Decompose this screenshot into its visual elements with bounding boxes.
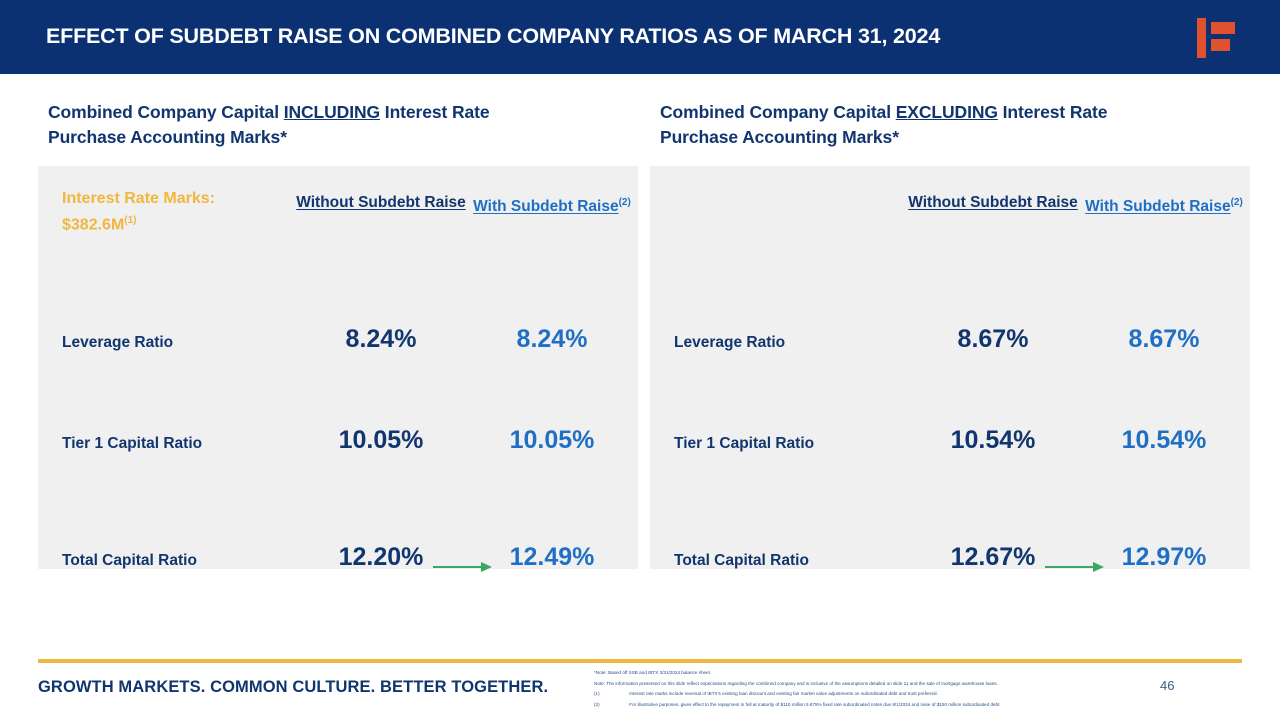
- panel-body-excluding: Without Subdebt Raise With Subdebt Raise…: [650, 166, 1250, 569]
- column-header-with-label: With Subdebt Raise: [1085, 196, 1230, 217]
- f-logo-icon: [1197, 18, 1237, 58]
- footnote-text: Interest rate marks include reversal of …: [629, 691, 938, 696]
- footnote-text: Based off SSB and IBTX 3/31/2024 balance…: [608, 670, 711, 675]
- footnote-text: The information presented on this slide …: [606, 681, 998, 686]
- panel-heading-pre: Combined Company Capital: [48, 102, 284, 122]
- column-header-with-footnote-ref: (2): [1231, 197, 1243, 208]
- value-with-leverage-ratio: 8.24%: [466, 325, 638, 354]
- panel-heading-emphasis: INCLUDING: [284, 102, 380, 122]
- column-header-with-label: With Subdebt Raise: [473, 196, 618, 217]
- value-with-total-capital-ratio: 12.97%: [1078, 543, 1250, 572]
- row-label-tier1-capital-ratio: Tier 1 Capital Ratio: [62, 435, 202, 453]
- column-header-without-subdebt-raise: Without Subdebt Raise: [902, 192, 1084, 213]
- footnote-note: Note: The information presented on this …: [594, 679, 1194, 690]
- footnote-marker: (1): [594, 689, 628, 700]
- row-label-leverage-ratio: Leverage Ratio: [62, 334, 173, 352]
- value-without-tier1-capital-ratio: 10.54%: [902, 426, 1084, 455]
- column-header-row-excluding: Without Subdebt Raise With Subdebt Raise…: [650, 188, 1250, 252]
- row-label-total-capital-ratio: Total Capital Ratio: [62, 552, 197, 570]
- page-number: 46: [1160, 678, 1174, 693]
- panel-heading-emphasis: EXCLUDING: [896, 102, 998, 122]
- page-title: EFFECT OF SUBDEBT RAISE ON COMBINED COMP…: [46, 24, 940, 49]
- value-with-tier1-capital-ratio: 10.54%: [1078, 426, 1250, 455]
- panel-heading-including: Combined Company Capital INCLUDING Inter…: [48, 100, 568, 150]
- value-without-tier1-capital-ratio: 10.05%: [290, 426, 472, 455]
- footnote-marker: Note:: [594, 681, 605, 686]
- value-without-leverage-ratio: 8.24%: [290, 325, 472, 354]
- footnote-1: (1) Interest rate marks include reversal…: [594, 689, 1194, 700]
- interest-rate-marks-label: Interest Rate Marks: $382.6M(1): [62, 188, 262, 236]
- value-with-total-capital-ratio: 12.49%: [466, 543, 638, 572]
- slide-header-bar: EFFECT OF SUBDEBT RAISE ON COMBINED COMP…: [0, 0, 1280, 74]
- value-with-tier1-capital-ratio: 10.05%: [466, 426, 638, 455]
- table-row: Leverage Ratio 8.24% 8.24%: [38, 325, 638, 367]
- footer-tagline: GROWTH MARKETS. COMMON CULTURE. BETTER T…: [38, 678, 548, 697]
- column-header-without-label: Without Subdebt Raise: [908, 192, 1078, 213]
- table-row: Total Capital Ratio 12.67% 12.97%: [650, 543, 1250, 585]
- panel-including-marks: Combined Company Capital INCLUDING Inter…: [38, 100, 638, 569]
- logo-middle-bar: [1211, 39, 1230, 51]
- value-with-leverage-ratio: 8.67%: [1078, 325, 1250, 354]
- table-row: Tier 1 Capital Ratio 10.05% 10.05%: [38, 426, 638, 468]
- footnote-2: (2) For illustrative purposes, gives eff…: [594, 700, 1194, 711]
- column-header-row-including: Interest Rate Marks: $382.6M(1) Without …: [38, 188, 638, 252]
- panel-heading-pre: Combined Company Capital: [660, 102, 896, 122]
- marks-label-text: Interest Rate Marks: $382.6M: [62, 190, 215, 233]
- footnote-note-star: *Note: Based off SSB and IBTX 3/31/2024 …: [594, 668, 1194, 679]
- column-header-with-footnote-ref: (2): [619, 197, 631, 208]
- column-header-without-label: Without Subdebt Raise: [296, 192, 466, 213]
- column-header-with-subdebt-raise: With Subdebt Raise(2): [1078, 192, 1250, 217]
- row-label-total-capital-ratio: Total Capital Ratio: [674, 552, 809, 570]
- row-label-tier1-capital-ratio: Tier 1 Capital Ratio: [674, 435, 814, 453]
- logo-top-bar: [1211, 22, 1235, 34]
- row-label-leverage-ratio: Leverage Ratio: [674, 334, 785, 352]
- table-row: Leverage Ratio 8.67% 8.67%: [650, 325, 1250, 367]
- marks-label-footnote-ref: (1): [124, 215, 136, 226]
- value-without-leverage-ratio: 8.67%: [902, 325, 1084, 354]
- table-row: Tier 1 Capital Ratio 10.54% 10.54%: [650, 426, 1250, 468]
- logo-vertical-bar: [1197, 18, 1206, 58]
- footnotes-block: *Note: Based off SSB and IBTX 3/31/2024 …: [594, 668, 1194, 710]
- column-header-with-subdebt-raise: With Subdebt Raise(2): [466, 192, 638, 217]
- column-header-without-subdebt-raise: Without Subdebt Raise: [290, 192, 472, 213]
- footnote-marker: *Note:: [594, 670, 607, 675]
- panel-heading-excluding: Combined Company Capital EXCLUDING Inter…: [660, 100, 1180, 150]
- table-row: Total Capital Ratio 12.20% 12.49%: [38, 543, 638, 585]
- footer-divider: [38, 659, 1242, 663]
- panel-excluding-marks: Combined Company Capital EXCLUDING Inter…: [650, 100, 1250, 569]
- footnote-marker: (2): [594, 700, 628, 711]
- footnote-text: For illustrative purposes, gives effect …: [629, 702, 1000, 707]
- panel-body-including: Interest Rate Marks: $382.6M(1) Without …: [38, 166, 638, 569]
